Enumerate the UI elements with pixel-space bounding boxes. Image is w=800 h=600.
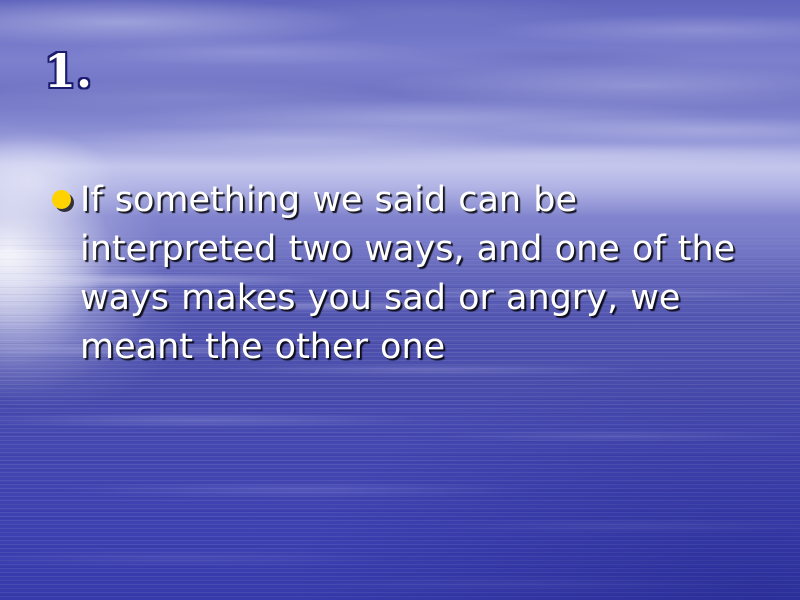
slide-title[interactable]: 1. <box>44 48 92 94</box>
bullet-list-item[interactable]: If something we said can be interpreted … <box>46 176 762 372</box>
presentation-slide: 1. If something we said can be interpret… <box>0 0 800 600</box>
bullet-point-icon <box>52 190 71 209</box>
slide-content: 1. If something we said can be interpret… <box>0 0 800 600</box>
slide-body-placeholder[interactable]: If something we said can be interpreted … <box>46 176 762 372</box>
bullet-item-text: If something we said can be interpreted … <box>80 176 762 372</box>
